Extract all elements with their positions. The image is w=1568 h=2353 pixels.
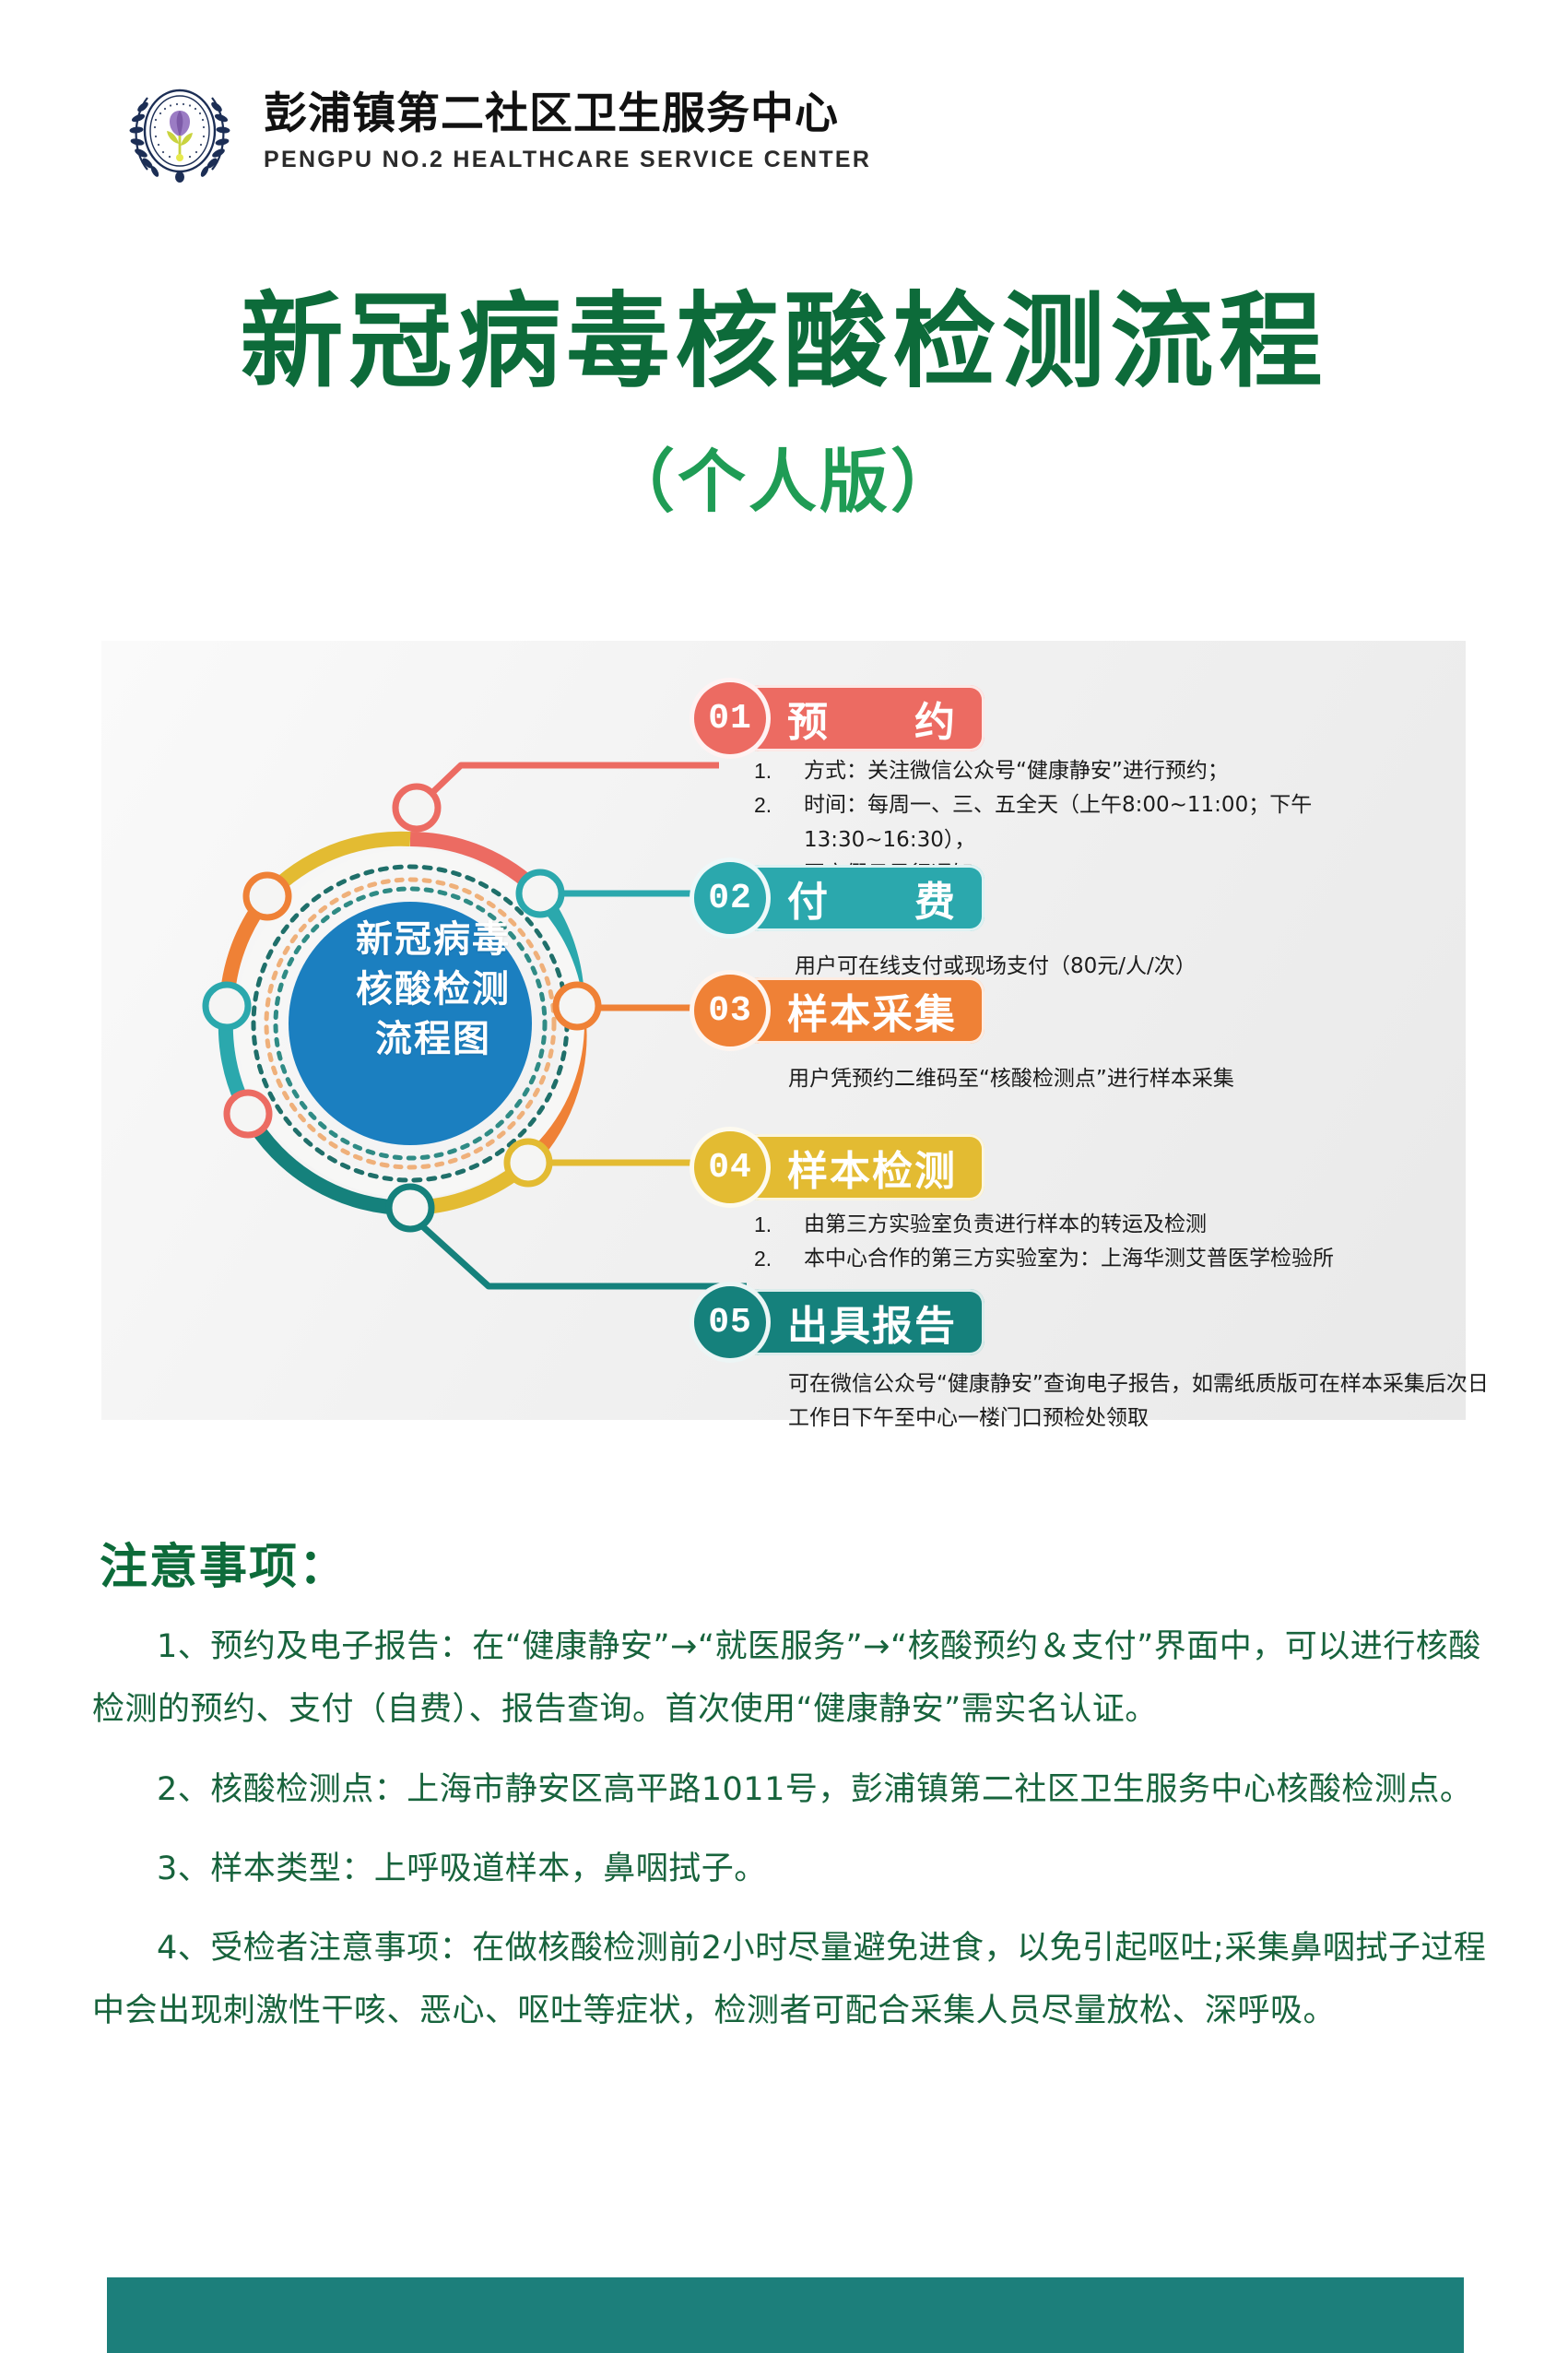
org-name-cn: 彭浦镇第二社区卫生服务中心 [264, 90, 871, 139]
title-block: 新冠病毒核酸检测流程 （个人版） [0, 286, 1568, 526]
footer-bar [107, 2277, 1464, 2353]
step-number-03: 03 [690, 970, 771, 1051]
step-desc-01-item-1: 方式：关注微信公众号“健康静安”进行预约； [747, 754, 1447, 788]
flow-step-02[interactable]: 02 付 费 [690, 857, 984, 939]
step-label-05: 出具报告 [745, 1289, 984, 1355]
notice-item-3: 3、样本类型：上呼吸道样本，鼻咽拭子。 [92, 1838, 1493, 1900]
step-desc-04-item-1: 由第三方实验室负责进行样本的转运及检测 [747, 1208, 1512, 1242]
step-desc-04: 由第三方实验室负责进行样本的转运及检测 本中心合作的第三方实验室为：上海华测艾普… [747, 1208, 1512, 1277]
hub-label-line3: 流程图 [309, 1014, 558, 1064]
notice-item-1: 1、预约及电子报告：在“健康静安”→“就医服务”→“核酸预约＆支付”界面中，可以… [92, 1615, 1493, 1742]
hub-label-line2: 核酸检测 [309, 964, 558, 1014]
step-desc-05-cont: 工作日下午至中心一楼门口预检处领取 [788, 1401, 1568, 1436]
org-name-block: 彭浦镇第二社区卫生服务中心 PENGPU NO.2 HEALTHCARE SER… [264, 90, 871, 174]
flow-step-03[interactable]: 03 样本采集 [690, 970, 984, 1051]
step-number-04: 04 [690, 1127, 771, 1208]
org-name-en: PENGPU NO.2 HEALTHCARE SERVICE CENTER [264, 147, 871, 173]
step-desc-03-text: 用户凭预约二维码至“核酸检测点”进行样本采集 [788, 1062, 1526, 1096]
hub-label-line1: 新冠病毒 [309, 915, 558, 964]
flow-step-05[interactable]: 05 出具报告 [690, 1282, 984, 1363]
step-number-01: 01 [690, 678, 771, 759]
header: 彭浦镇第二社区卫生服务中心 PENGPU NO.2 HEALTHCARE SER… [120, 72, 871, 192]
page-title: 新冠病毒核酸检测流程 [0, 286, 1568, 399]
notice-item-2: 2、核酸检测点：上海市静安区高平路1011号，彭浦镇第二社区卫生服务中心核酸检测… [92, 1758, 1493, 1821]
notice-heading: 注意事项： [100, 1528, 348, 1597]
notice-list: 1、预约及电子报告：在“健康静安”→“就医服务”→“核酸预约＆支付”界面中，可以… [92, 1615, 1493, 2060]
flow-step-01[interactable]: 01 预 约 [690, 678, 984, 759]
step-desc-05: 可在微信公众号“健康静安”查询电子报告，如需纸质版可在样本采集后次日 工作日下午… [788, 1367, 1568, 1437]
step-desc-04-item-2: 本中心合作的第三方实验室为：上海华测艾普医学检验所 [747, 1242, 1512, 1276]
step-label-04: 样本检测 [745, 1134, 984, 1200]
notice-item-4: 4、受检者注意事项：在做核酸检测前2小时尽量避免进食，以免引起呕吐;采集鼻咽拭子… [92, 1917, 1493, 2043]
step-desc-01-item-2: 时间：每周一、三、五全天（上午8:00~11:00；下午13:30~16:30）… [747, 788, 1447, 857]
step-number-02: 02 [690, 857, 771, 939]
step-number-05: 05 [690, 1282, 771, 1363]
step-label-02: 付 费 [745, 865, 984, 931]
page-subtitle: （个人版） [0, 427, 1568, 526]
step-desc-03: 用户凭预约二维码至“核酸检测点”进行样本采集 [788, 1062, 1526, 1096]
hub-label: 新冠病毒 核酸检测 流程图 [309, 915, 558, 1064]
step-label-01: 预 约 [745, 685, 984, 751]
poster-page: 彭浦镇第二社区卫生服务中心 PENGPU NO.2 HEALTHCARE SER… [0, 0, 1568, 2353]
pengpu-emblem-icon [120, 72, 240, 192]
step-label-03: 样本采集 [745, 977, 984, 1044]
step-desc-05-text: 可在微信公众号“健康静安”查询电子报告，如需纸质版可在样本采集后次日 [788, 1367, 1568, 1401]
flow-step-04[interactable]: 04 样本检测 [690, 1127, 984, 1208]
